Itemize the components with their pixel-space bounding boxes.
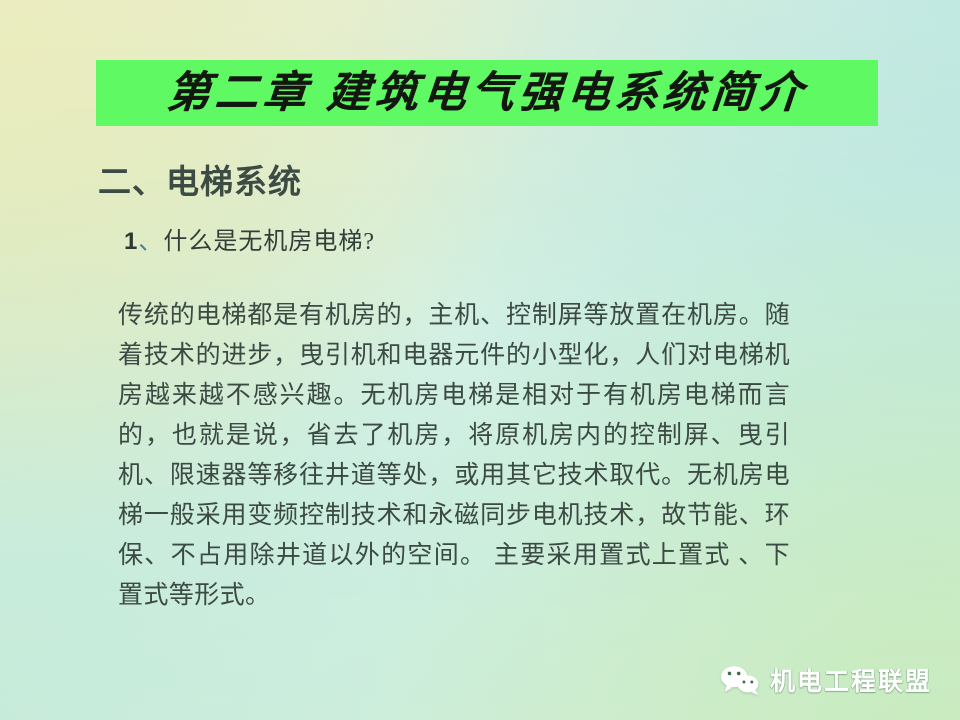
sub-heading: 1、什么是无机房电梯? bbox=[124, 228, 375, 257]
wechat-icon bbox=[719, 664, 761, 696]
watermark-label: 机电工程联盟 bbox=[770, 662, 932, 698]
slide-canvas: 第二章 建筑电气强电系统简介 二、电梯系统 1、什么是无机房电梯? 传统的电梯都… bbox=[0, 0, 960, 720]
title-banner: 第二章 建筑电气强电系统简介 bbox=[96, 60, 878, 126]
chapter-title: 第二章 建筑电气强电系统简介 bbox=[165, 72, 809, 115]
sub-heading-separator: 、 bbox=[138, 229, 163, 255]
section-heading: 二、电梯系统 bbox=[98, 163, 302, 201]
body-paragraph: 传统的电梯都是有机房的，主机、控制屏等放置在机房。随着技术的进步，曳引机和电器元… bbox=[118, 296, 790, 616]
watermark: 机电工程联盟 bbox=[719, 662, 932, 698]
sub-heading-label: 什么是无机房电梯? bbox=[163, 229, 375, 255]
sub-heading-number: 1 bbox=[124, 228, 138, 255]
